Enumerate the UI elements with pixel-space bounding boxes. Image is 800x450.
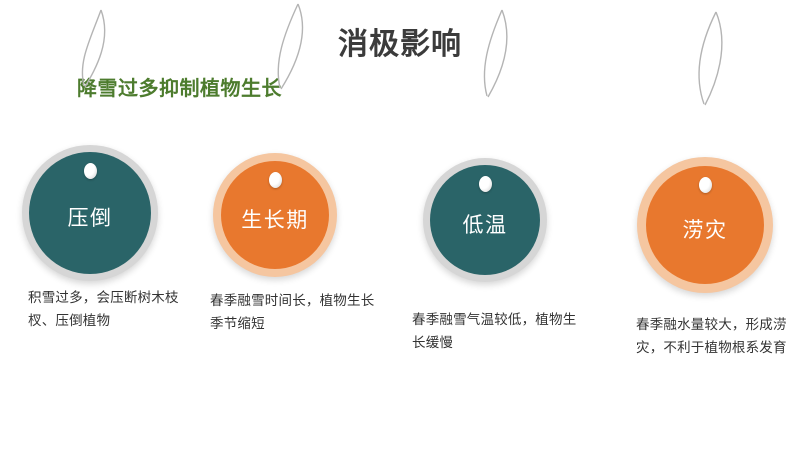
tag-string-icon: [0, 0, 210, 120]
tag-label-2: 低温: [463, 213, 508, 239]
tag-string-icon: [198, 0, 408, 120]
tag-card-0[interactable]: 压倒 积雪过多，会压断树木枝杈、压倒植物: [0, 0, 210, 450]
tag-card-2[interactable]: 低温 春季融雪气温较低，植物生长缓慢: [404, 0, 614, 450]
tag-circle-0[interactable]: 压倒: [22, 145, 158, 281]
tag-circle-3[interactable]: 涝灾: [637, 157, 773, 293]
tag-card-1[interactable]: 生长期 春季融雪时间长，植物生长季节缩短: [198, 0, 408, 450]
tag-eyelet-icon-2: [479, 176, 492, 192]
tag-eyelet-icon-3: [699, 177, 712, 193]
slide-canvas: 消极影响 降雪过多抑制植物生长 压倒 积雪过多，会压断树木枝杈、压倒植物 生长期…: [0, 0, 800, 450]
tag-circle-1[interactable]: 生长期: [213, 153, 337, 277]
tag-description-1: 春季融雪时间长，植物生长季节缩短: [210, 289, 385, 335]
tag-label-3: 涝灾: [683, 218, 728, 244]
tag-string-icon: [620, 0, 800, 120]
tag-circle-2[interactable]: 低温: [423, 158, 547, 282]
tag-eyelet-icon-1: [269, 172, 282, 188]
tag-label-1: 生长期: [241, 208, 309, 234]
tag-string-icon: [404, 0, 614, 120]
tag-description-3: 春季融水量较大，形成涝灾，不利于植物根系发育: [636, 313, 800, 359]
tag-eyelet-icon-0: [84, 163, 97, 179]
tag-label-0: 压倒: [68, 206, 113, 232]
tag-card-3[interactable]: 涝灾 春季融水量较大，形成涝灾，不利于植物根系发育: [620, 0, 800, 450]
tag-description-0: 积雪过多，会压断树木枝杈、压倒植物: [28, 286, 203, 332]
tag-description-2: 春季融雪气温较低，植物生长缓慢: [412, 308, 587, 354]
